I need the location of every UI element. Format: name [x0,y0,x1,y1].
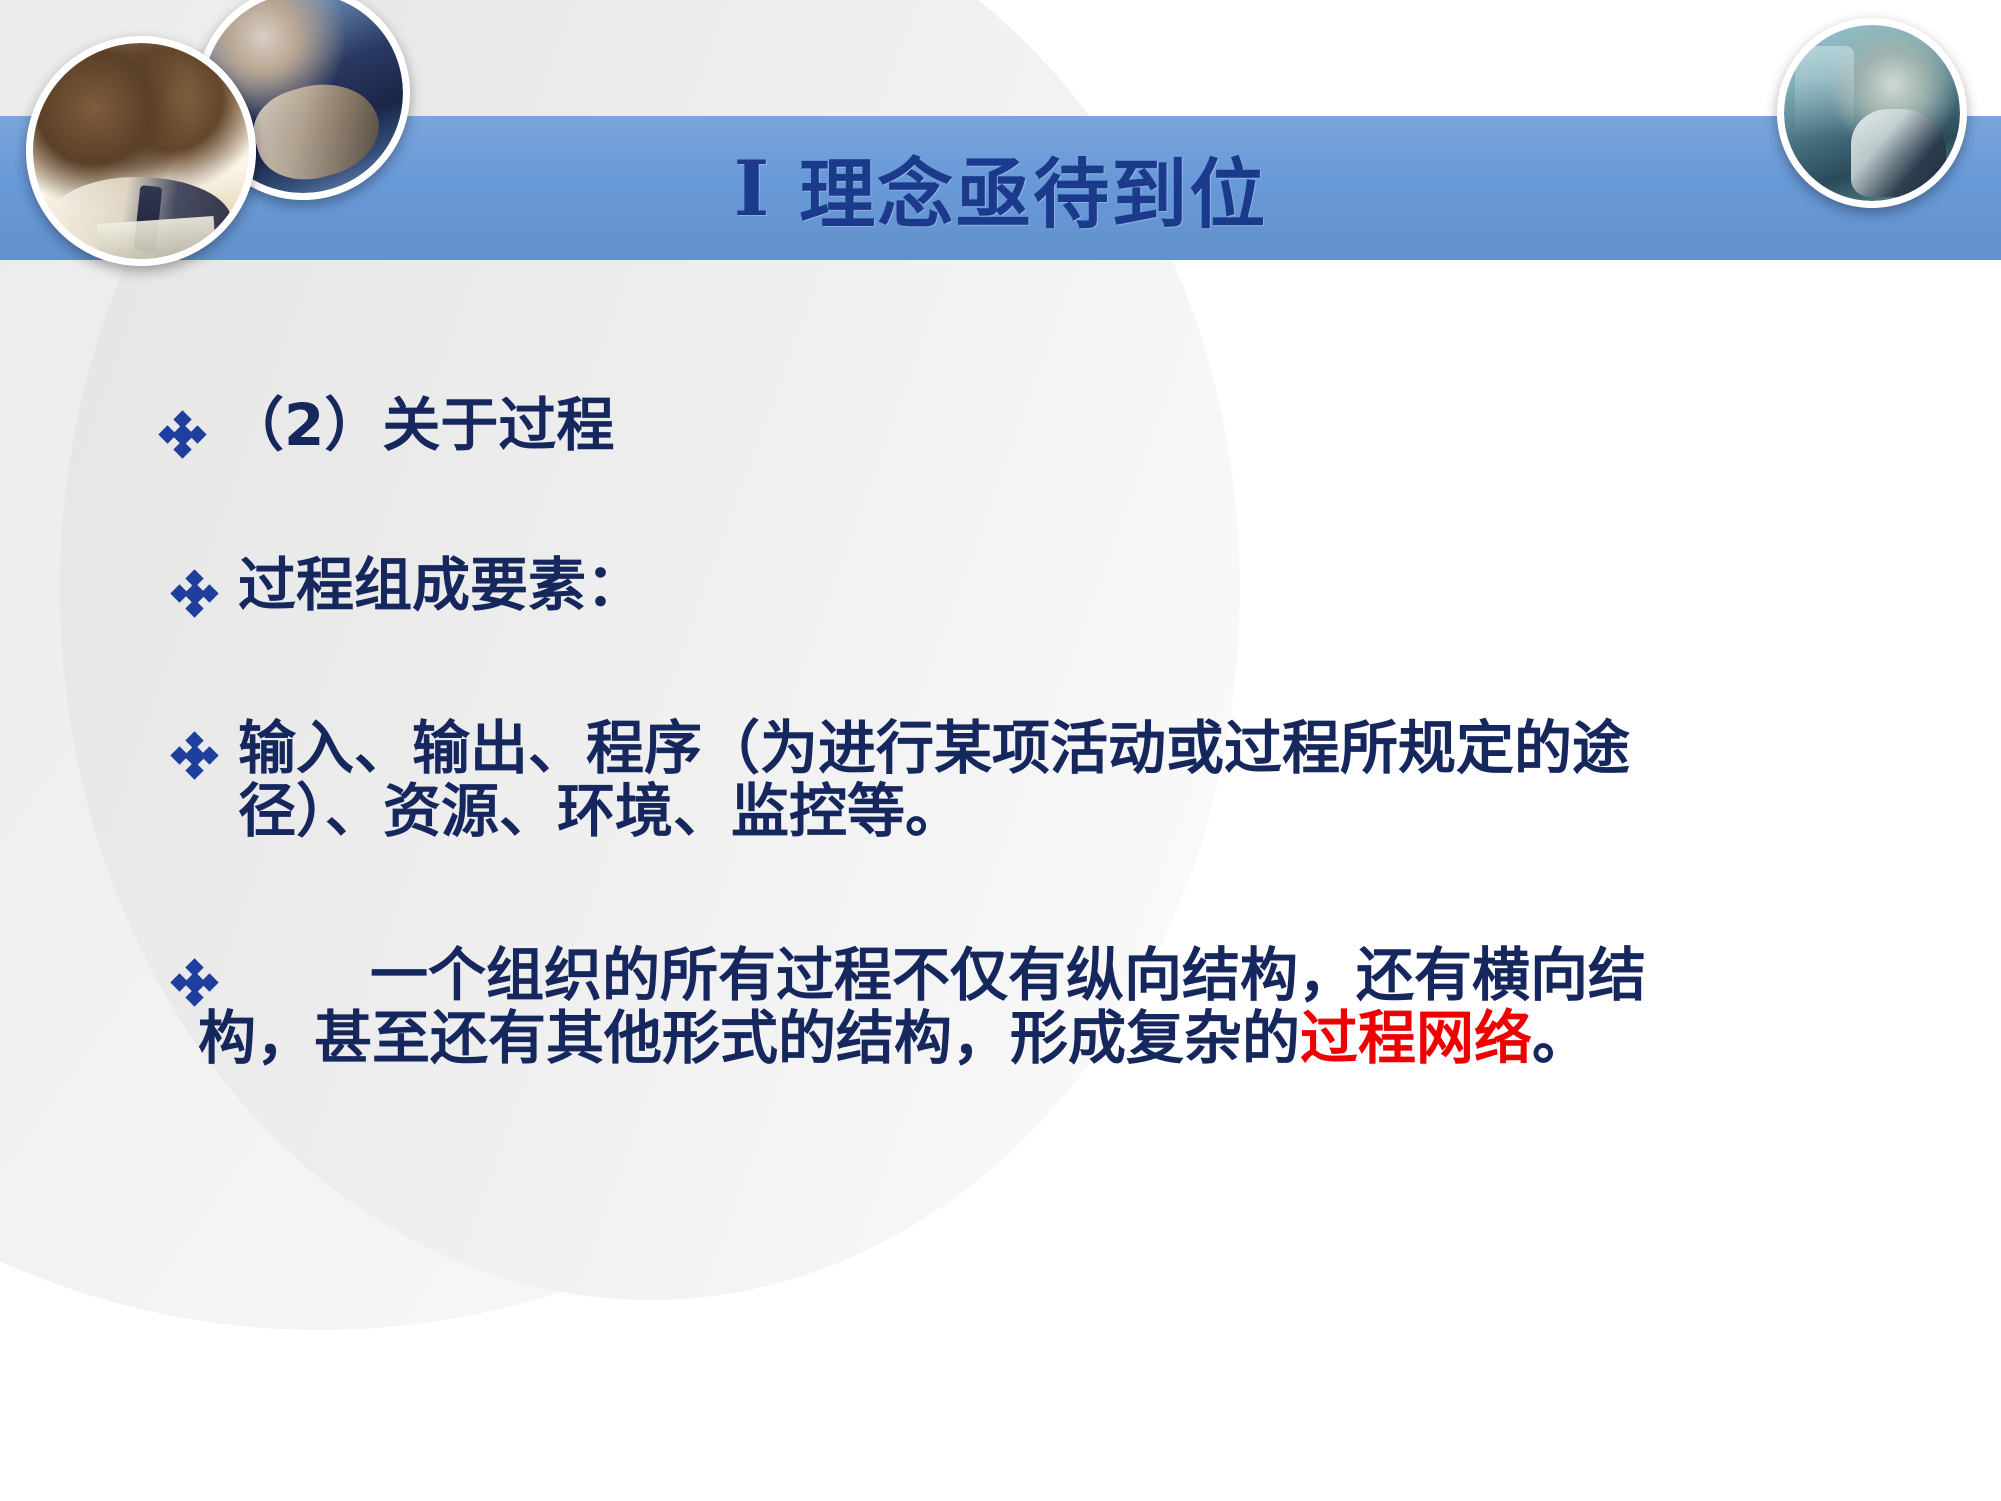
title-numeral: Ⅰ [734,144,772,233]
executive-desk-photo-image [1784,25,1960,201]
colleagues-laptop-photo-image [33,43,249,259]
laptop-detail [97,216,216,259]
diamond-cluster-bullet-icon [172,944,238,1006]
slide-canvas: Ⅰ 理念亟待到位 （2）关于过程 过程组成要素： [0,0,2001,1501]
highlighted-term: 过程网络 [1300,1004,1532,1072]
bullet-item-1-text: （2）关于过程 [226,396,2001,454]
bullet-item-4-tail: 。 [1532,1004,1590,1072]
bullet-item-3-line-2: 径）、资源、环境、监控等。 [238,780,1941,843]
bullet-item-2-text: 过程组成要素： [238,556,2001,614]
bullet-item-4-line-1: 一个组织的所有过程不仅有纵向结构，还有横向结 [238,944,1941,1007]
bullet-item-3-line-1: 输入、输出、程序（为进行某项活动或过程所规定的途 [238,714,1630,782]
bullet-item-4-line-2: 构，甚至还有其他形式的结构，形成复杂的过程网络。 [198,1007,1941,1070]
bullet-item-3-text: 输入、输出、程序（为进行某项活动或过程所规定的途 径）、资源、环境、监控等。 [238,717,2001,842]
diamond-cluster-bullet-icon [172,556,238,618]
bullet-item-4: 一个组织的所有过程不仅有纵向结构，还有横向结 构，甚至还有其他形式的结构，形成复… [0,944,2001,1069]
colleagues-laptop-photo [26,36,256,266]
bullet-item-4-line-2-plain: 构，甚至还有其他形式的结构，形成复杂的 [198,1004,1300,1072]
slide-body: （2）关于过程 过程组成要素： 输入、输出、程序（为进行某项活动或过程所规定的途… [0,300,2001,1070]
title-text: 理念亟待到位 [799,133,1267,243]
diamond-cluster-bullet-icon [172,717,238,779]
bullet-item-2: 过程组成要素： [0,556,2001,618]
bullet-item-4-text: 一个组织的所有过程不仅有纵向结构，还有横向结 构，甚至还有其他形式的结构，形成复… [238,944,2001,1069]
bullet-item-3: 输入、输出、程序（为进行某项活动或过程所规定的途 径）、资源、环境、监控等。 [0,717,2001,842]
bullet-item-1: （2）关于过程 [0,396,2001,458]
diamond-cluster-bullet-icon [160,396,226,458]
executive-desk-photo [1777,18,1967,208]
